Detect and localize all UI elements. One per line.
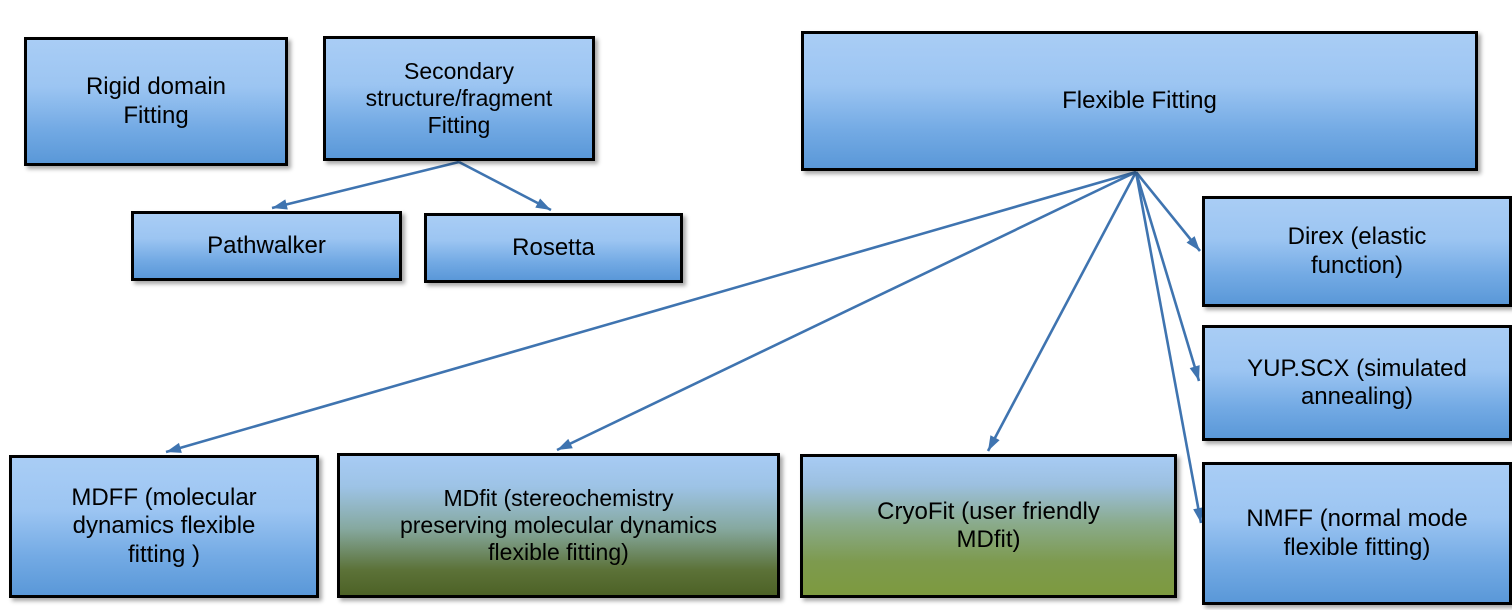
connector-line: [1136, 172, 1199, 381]
node-yup-scx[interactable]: YUP.SCX (simulated annealing): [1202, 325, 1512, 441]
node-label-secondary-structure-fitting: Secondary structure/fragment Fitting: [366, 58, 553, 139]
connector-secondary-to-rosetta: [459, 162, 551, 210]
arrowhead-icon: [988, 435, 1000, 451]
arrowhead-icon: [535, 198, 551, 210]
arrowhead-icon: [272, 199, 288, 209]
arrowhead-icon: [166, 443, 182, 453]
node-label-mdff: MDFF (molecular dynamics flexible fittin…: [71, 484, 256, 569]
connector-flexible-to-direx: [1136, 172, 1200, 251]
node-label-mdfit: MDfit (stereochemistry preserving molecu…: [400, 485, 717, 566]
node-label-nmff: NMFF (normal mode flexible fitting): [1246, 505, 1467, 562]
node-mdfit[interactable]: MDfit (stereochemistry preserving molecu…: [337, 453, 780, 598]
connector-line: [988, 172, 1136, 451]
node-label-cryofit: CryoFit (user friendly MDfit): [877, 498, 1100, 555]
node-pathwalker[interactable]: Pathwalker: [131, 211, 402, 281]
node-label-direx: Direx (elastic function): [1288, 223, 1427, 280]
arrowhead-icon: [1187, 236, 1200, 251]
connector-line: [1136, 172, 1200, 251]
node-flexible-fitting[interactable]: Flexible Fitting: [801, 31, 1478, 171]
node-label-rosetta: Rosetta: [512, 234, 595, 262]
connector-secondary-to-pathwalker: [272, 162, 459, 209]
node-label-yup-scx: YUP.SCX (simulated annealing): [1247, 355, 1467, 412]
node-direx[interactable]: Direx (elastic function): [1202, 196, 1512, 307]
node-label-rigid-domain-fitting: Rigid domain Fitting: [86, 73, 226, 130]
node-cryofit[interactable]: CryoFit (user friendly MDfit): [800, 454, 1177, 598]
connector-flexible-to-cryofit: [988, 172, 1136, 451]
node-secondary-structure-fitting[interactable]: Secondary structure/fragment Fitting: [323, 36, 595, 161]
arrowhead-icon: [557, 439, 573, 450]
connector-line: [459, 162, 551, 210]
node-rigid-domain-fitting[interactable]: Rigid domain Fitting: [24, 37, 288, 166]
arrowhead-icon: [1190, 365, 1200, 381]
node-nmff[interactable]: NMFF (normal mode flexible fitting): [1202, 462, 1512, 605]
node-label-flexible-fitting: Flexible Fitting: [1062, 87, 1217, 115]
node-rosetta[interactable]: Rosetta: [424, 213, 683, 283]
connector-line: [272, 162, 459, 208]
connector-flexible-to-yupscx: [1136, 172, 1200, 381]
node-mdff[interactable]: MDFF (molecular dynamics flexible fittin…: [9, 455, 319, 598]
diagram-canvas: Rigid domain FittingSecondary structure/…: [0, 0, 1512, 610]
node-label-pathwalker: Pathwalker: [207, 232, 326, 260]
